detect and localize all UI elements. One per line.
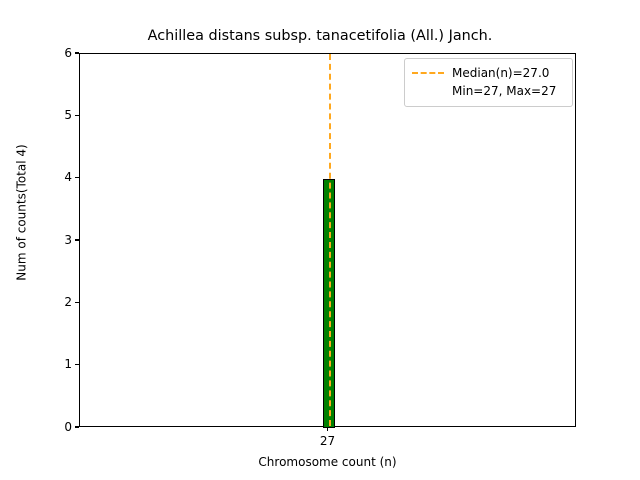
page-title: Achillea distans subsp. tanacetifolia (A…: [0, 28, 640, 45]
legend-dashed-line-swatch: [412, 72, 444, 74]
y-axis-tick-label: 4: [64, 169, 72, 186]
median-line: [329, 54, 331, 426]
y-axis-tick-label: 2: [64, 294, 72, 311]
legend-item: Median(n)=27.0: [412, 64, 565, 82]
x-axis-tick-label: 27: [298, 434, 358, 449]
y-axis-tick-label: 1: [64, 356, 72, 373]
legend-item: Min=27, Max=27: [412, 82, 565, 100]
x-axis-tick-mark: [327, 427, 328, 431]
legend: Median(n)=27.0Min=27, Max=27: [404, 58, 573, 107]
x-axis-label: Chromosome count (n): [79, 455, 576, 470]
y-axis-label-line1: Num of counts: [15, 193, 29, 281]
y-axis-tick-label: 5: [64, 107, 72, 124]
y-axis-label: Num of counts(Total 4): [15, 53, 30, 373]
y-axis-ticks: 0123456: [0, 0, 79, 480]
y-axis-label-line2: (Total 4): [15, 144, 29, 193]
legend-label: Median(n)=27.0: [452, 65, 549, 81]
legend-label: Min=27, Max=27: [452, 83, 556, 99]
plot-area: [79, 53, 576, 427]
y-axis-tick-label: 3: [64, 232, 72, 249]
figure-canvas: Achillea distans subsp. tanacetifolia (A…: [0, 0, 640, 480]
y-axis-tick-label: 6: [64, 45, 72, 62]
